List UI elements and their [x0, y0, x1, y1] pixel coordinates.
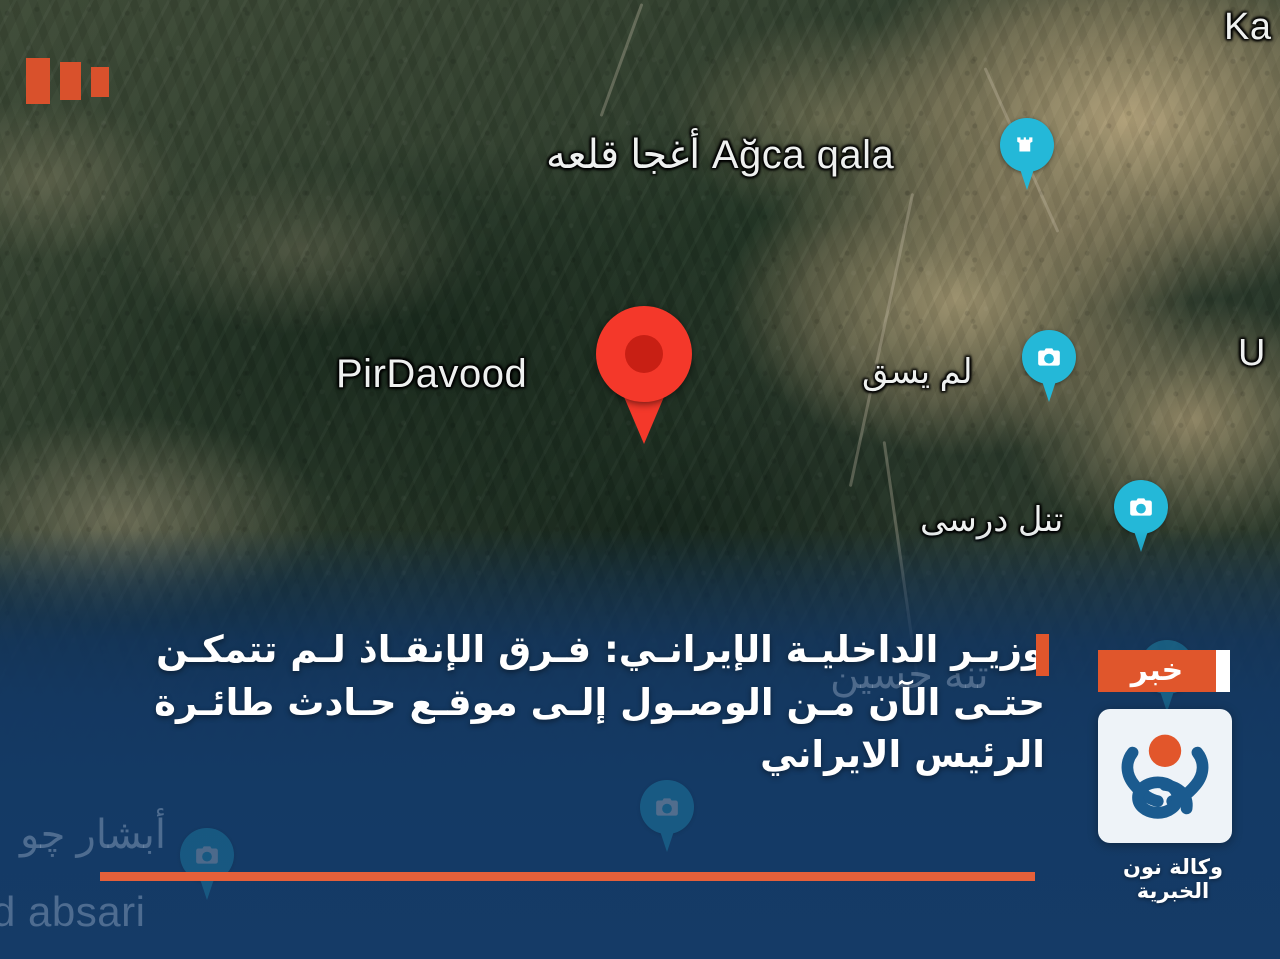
- orange-divider-rule: [100, 872, 1035, 881]
- news-badge: خبر: [1098, 650, 1216, 692]
- badge-white-tick: [1216, 650, 1230, 692]
- three-bars-mark-icon: [26, 58, 109, 104]
- agency-logo: [1098, 709, 1232, 843]
- headline-line-1: وزيـر الداخليـة الإيرانـي: فـرق الإنقـاذ…: [60, 624, 1045, 677]
- map-marker-agca-qala[interactable]: [1000, 118, 1054, 190]
- map-label-ka: Ka: [1224, 6, 1271, 49]
- map-label-u: U: [1238, 332, 1266, 375]
- bar-3: [91, 67, 109, 97]
- map-label-pirdavood: PirDavood: [336, 352, 527, 397]
- castle-icon: [1000, 118, 1054, 172]
- camera-icon: [640, 780, 694, 834]
- map-marker-dim-2: [640, 780, 694, 852]
- agency-name: وكالة نون الخبرية: [1098, 855, 1248, 903]
- brand-block: خبر وكالة نون الخبرية: [1098, 650, 1248, 903]
- news-badge-label: خبر: [1131, 656, 1184, 686]
- pin-inner-dot: [625, 335, 663, 373]
- news-card: Ağca qala أغجا قلعه PirDavood Ka U لم يس…: [0, 0, 1280, 959]
- headline: وزيـر الداخليـة الإيرانـي: فـرق الإنقـاذ…: [60, 624, 1045, 782]
- map-label-lam-yasq: لم يسق: [862, 352, 973, 392]
- map-label-absari-dim: d absari: [0, 888, 145, 936]
- camera-icon: [1022, 330, 1076, 384]
- map-label-tunnel-darsi: تنل درسی: [920, 500, 1063, 540]
- map-label-abshar-dim: أبشار چو: [20, 812, 166, 858]
- noon-agency-logo-icon: [1111, 722, 1219, 830]
- headline-accent-tick: [1036, 634, 1049, 676]
- camera-icon: [1114, 480, 1168, 534]
- headline-line-3: الرئيس الايراني: [60, 729, 1045, 782]
- map-pin-crash-site[interactable]: [596, 306, 692, 446]
- map-label-agca-qala: Ağca qala أغجا قلعه: [546, 132, 894, 178]
- map-marker-lam-yasq[interactable]: [1022, 330, 1076, 402]
- bar-1: [26, 58, 50, 104]
- map-marker-tunnel-darsi[interactable]: [1114, 480, 1168, 552]
- map-marker-dim-3: [180, 828, 234, 900]
- headline-line-2: حتـى الآن مـن الوصـول إلـى موقـع حـادث ط…: [60, 677, 1045, 730]
- bar-2: [60, 62, 81, 100]
